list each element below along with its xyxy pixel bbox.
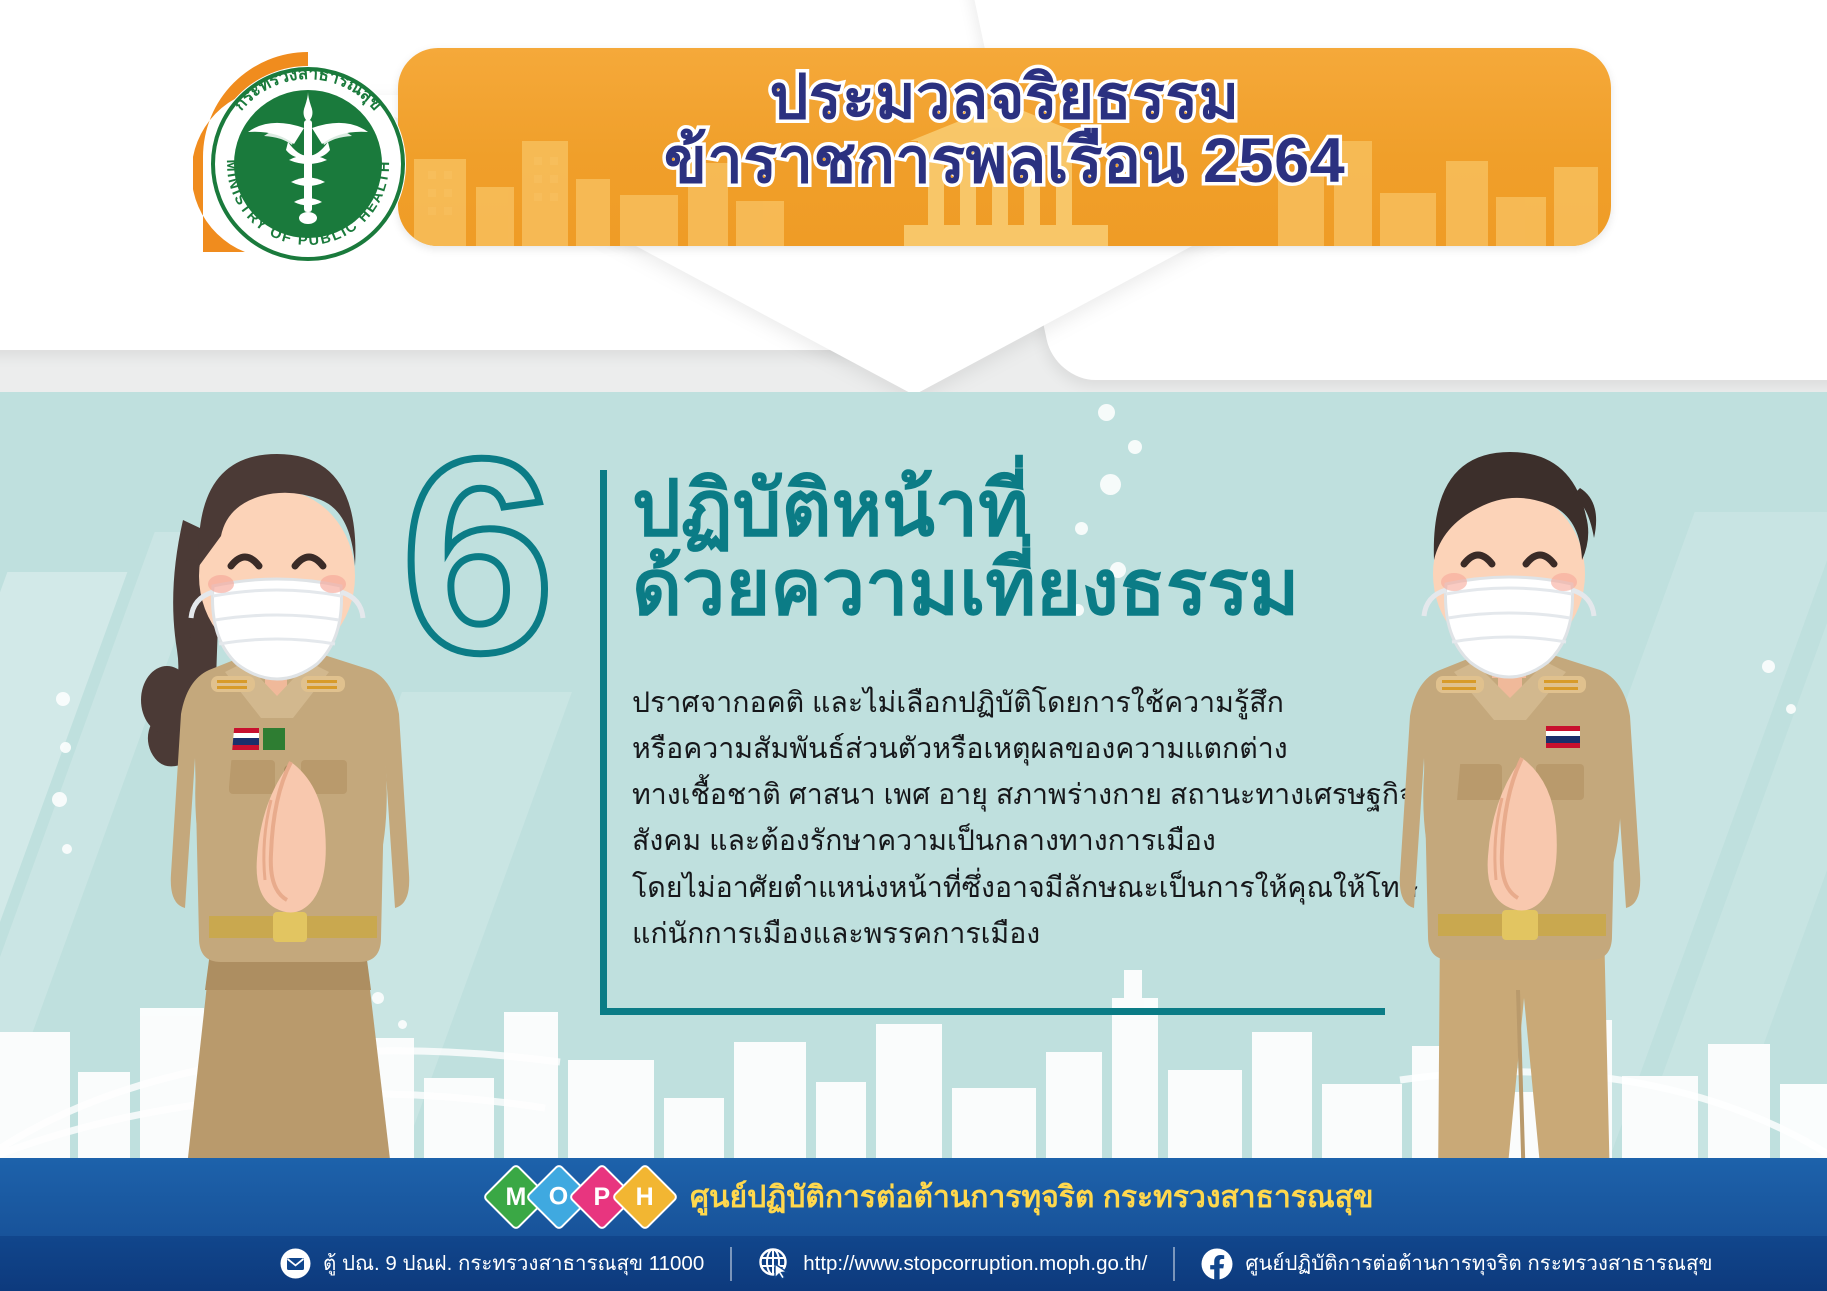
headline-line-2: ด้วยความเที่ยงธรรม xyxy=(632,549,1452,628)
body-line: สังคม และต้องรักษาความเป็นกลางทางการเมือ… xyxy=(632,818,1432,864)
facebook-icon xyxy=(1201,1248,1233,1280)
moph-letter-o-text: O xyxy=(549,1184,568,1209)
body-line: หรือความสัมพันธ์ส่วนตัวหรือเหตุผลของความ… xyxy=(632,726,1432,772)
moph-letter-h-text: H xyxy=(636,1185,654,1210)
moph-letter-m-text: M xyxy=(506,1184,527,1209)
facebook-text: ศูนย์ปฏิบัติการต่อต้านการทุจริต กระทรวงส… xyxy=(1245,1247,1712,1280)
moph-letter-h: H xyxy=(611,1163,679,1231)
male-officer-illustration xyxy=(1340,370,1700,1170)
footer-contact-mail: ตู้ ปณ. 9 ปณฝ. กระทรวงสาธารณสุข 11000 xyxy=(280,1247,704,1280)
body-line: ทางเชื้อชาติ ศาสนา เพศ อายุ สภาพร่างกาย … xyxy=(632,772,1432,818)
footer-divider-2 xyxy=(1173,1247,1175,1281)
headline-line-1: ปฏิบัติหน้าที่ xyxy=(632,470,1452,549)
globe-cursor-icon xyxy=(758,1247,791,1280)
footer-contact-band: ตู้ ปณ. 9 ปณฝ. กระทรวงสาธารณสุข 11000 ht… xyxy=(0,1236,1827,1291)
title-banner: ประมวลจริยธรรม ข้าราชการพลเรือน 2564 xyxy=(398,48,1611,246)
moph-letter-p-text: P xyxy=(594,1185,611,1210)
website-text: http://www.stopcorruption.moph.go.th/ xyxy=(803,1252,1147,1276)
ministry-of-public-health-seal: กระทรวงสาธารณสุข MINISTRY OF PUBLIC HEAL… xyxy=(193,42,423,272)
horizontal-divider-rule xyxy=(600,1008,1385,1015)
infographic-poster: ประมวลจริยธรรม ข้าราชการพลเรือน 2564 กระ… xyxy=(0,0,1827,1291)
body-line: แก่นักการเมืองและพรรคการเมือง xyxy=(632,911,1432,957)
footer-contact-website[interactable]: http://www.stopcorruption.moph.go.th/ xyxy=(758,1247,1147,1280)
footer-divider-1 xyxy=(730,1247,732,1281)
female-officer-illustration xyxy=(105,370,475,1170)
title-line-1: ประมวลจริยธรรม xyxy=(398,66,1611,129)
title-text-block: ประมวลจริยธรรม ข้าราชการพลเรือน 2564 xyxy=(398,48,1611,195)
mail-icon xyxy=(280,1248,311,1279)
body-line: ปราศจากอคติ และไม่เลือกปฏิบัติโดยการใช้ค… xyxy=(632,680,1432,726)
footer-contact-facebook[interactable]: ศูนย์ปฏิบัติการต่อต้านการทุจริต กระทรวงส… xyxy=(1201,1247,1712,1280)
section-body-text: ปราศจากอคติ และไม่เลือกปฏิบัติโดยการใช้ค… xyxy=(632,680,1432,957)
footer-org-title: ศูนย์ปฏิบัติการต่อต้านการทุจริต กระทรวงส… xyxy=(690,1174,1374,1221)
thai-flag-badge xyxy=(225,728,285,750)
section-headline: ปฏิบัติหน้าที่ ด้วยความเที่ยงธรรม xyxy=(632,470,1452,627)
title-line-2: ข้าราชการพลเรือน 2564 xyxy=(398,129,1611,195)
vertical-divider-rule xyxy=(600,470,607,1015)
footer-org-band: M O P H ศูนย์ปฏิบัติการต่อต้านการทุจริต … xyxy=(0,1158,1827,1236)
moph-logo: M O P H xyxy=(492,1173,664,1221)
body-line: โดยไม่อาศัยตำแหน่งหน้าที่ซึ่งอาจมีลักษณะ… xyxy=(632,865,1432,911)
mail-text: ตู้ ปณ. 9 ปณฝ. กระทรวงสาธารณสุข 11000 xyxy=(323,1247,704,1280)
